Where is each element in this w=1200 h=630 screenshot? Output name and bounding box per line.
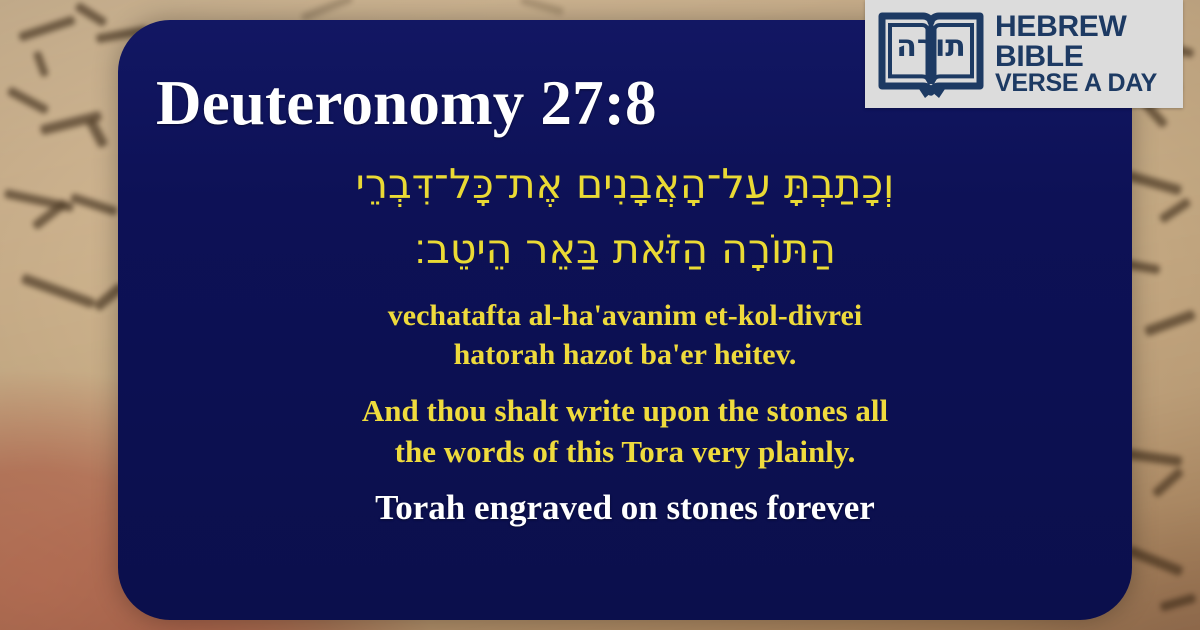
transliteration-block: vechatafta al-ha'avanim et-kol-divrei ha… [134,296,1116,374]
verse-card: Deuteronomy 27:8 וְכָתַבְתָּ עַל־הָאֲבָנ… [118,20,1132,620]
hebrew-line-1: וְכָתַבְתָּ עַל־הָאֲבָנִים אֶת־כָּל־דִּב… [134,152,1116,217]
transliteration-line-2: hatorah hazot ba'er heitev. [134,335,1116,374]
book-hebrew-text: תורה [896,29,965,64]
verse-image-canvas: Deuteronomy 27:8 וְכָתַבְתָּ עַל־הָאֲבָנ… [0,0,1200,630]
hebrew-line-2: הַתּוֹרָה הַזֹּאת בַּאֵר הֵיטֵב׃ [134,217,1116,282]
brand-logo[interactable]: תורה HEBREW BIBLE VERSE A DAY [865,0,1183,108]
transliteration-line-1: vechatafta al-ha'avanim et-kol-divrei [134,296,1116,335]
translation-block: And thou shalt write upon the stones all… [134,390,1116,472]
brand-line-2: BIBLE [995,42,1157,71]
hebrew-verse-block: וְכָתַבְתָּ עַל־הָאֲבָנִים אֶת־כָּל־דִּב… [134,152,1116,282]
brand-line-3: VERSE A DAY [995,71,1157,96]
verse-caption: Torah engraved on stones forever [375,489,875,528]
page-title: Deuteronomy 27:8 [156,72,657,135]
brand-line-1: HEBREW [995,12,1157,41]
translation-line-1: And thou shalt write upon the stones all [134,390,1116,431]
translation-line-2: the words of this Tora very plainly. [134,431,1116,472]
open-book-icon: תורה [877,6,985,102]
brand-wordmark: HEBREW BIBLE VERSE A DAY [995,12,1157,95]
